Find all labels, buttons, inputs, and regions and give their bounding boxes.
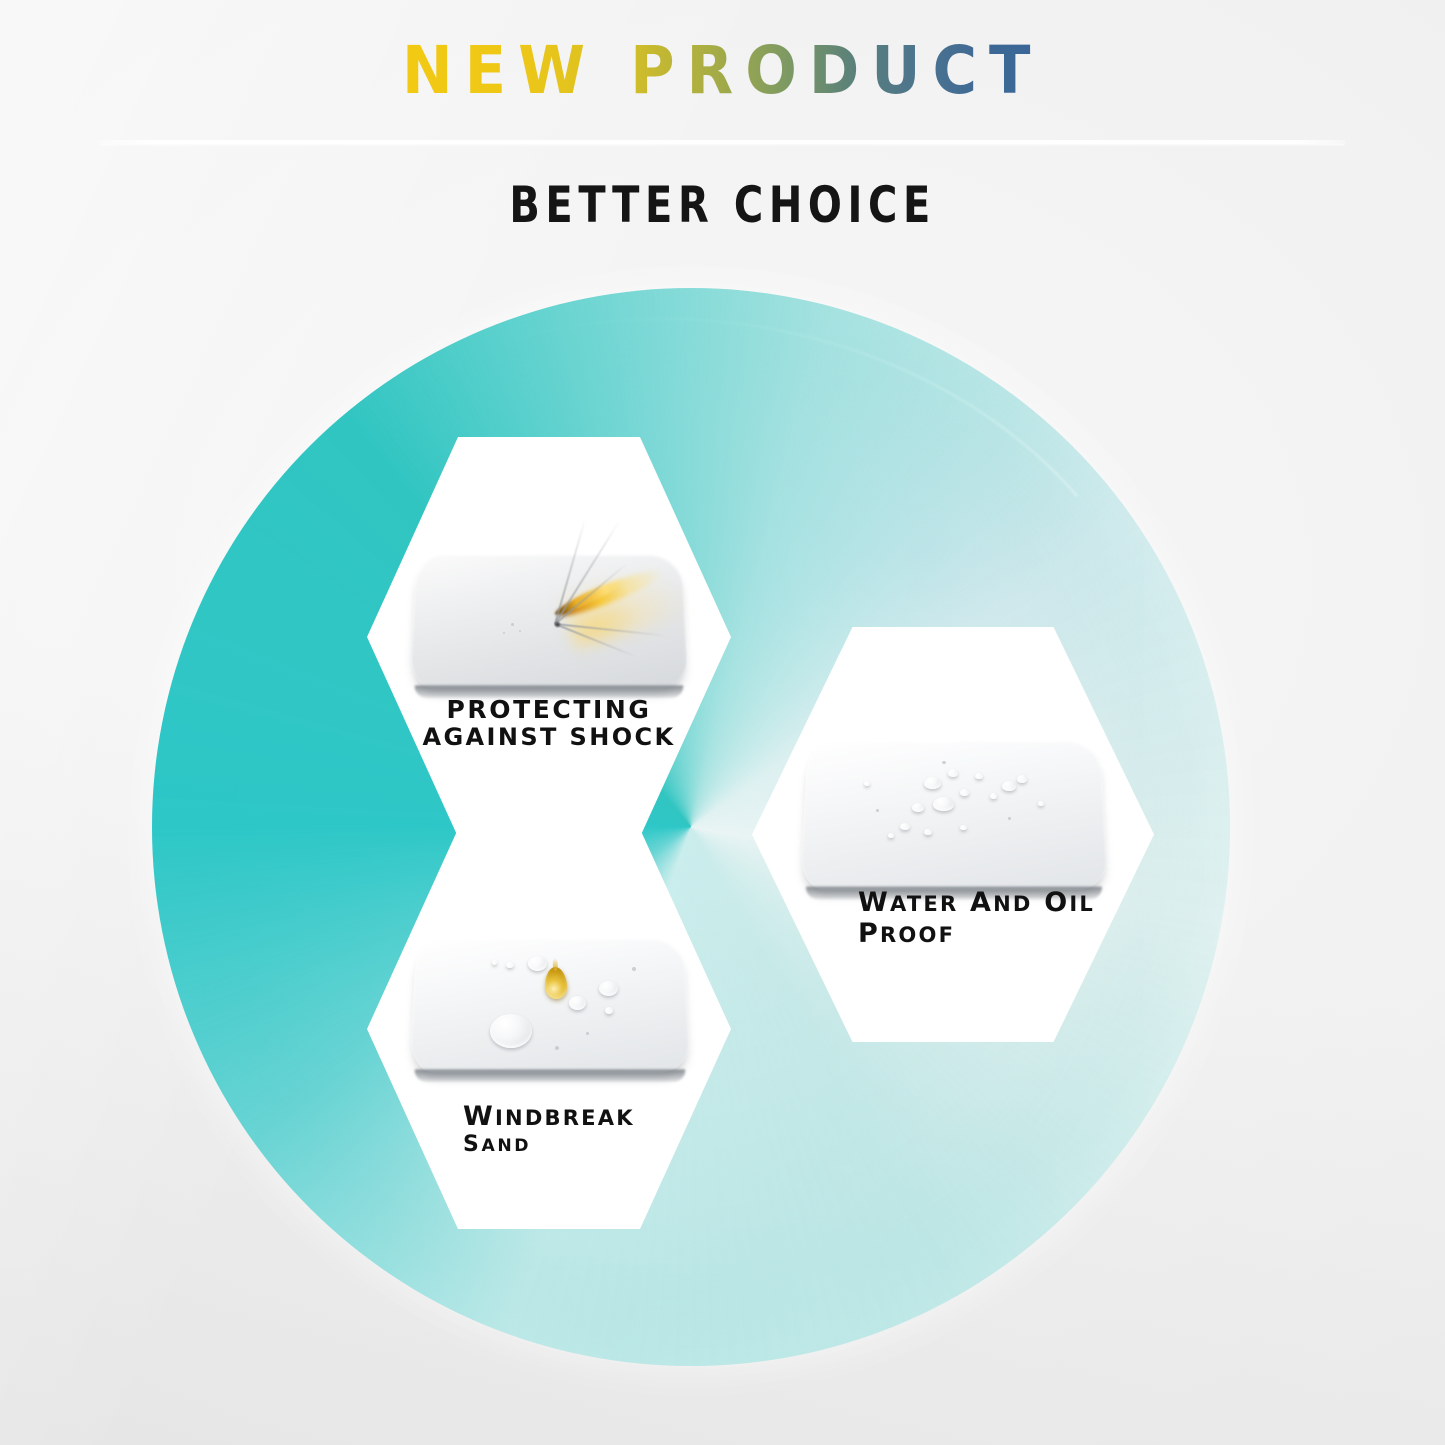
water-bead [900,823,910,830]
water-bead [888,833,894,838]
feature-label-windbreak-sand: WINDBREAK SAND [463,1101,635,1158]
water-bead [1038,801,1044,806]
water-bead [569,996,586,1010]
water-bead [1017,775,1027,783]
water-bead [990,793,997,799]
product-banner: NEW PRODUCT BETTER CHOICE [0,0,1445,1445]
header: NEW PRODUCT [0,38,1445,104]
water-bead [960,789,969,796]
water-bead [924,777,941,789]
feature-label-line2: SAND [463,1132,635,1158]
feature-label-line1: PROTECTING [422,695,675,724]
feature-label-line2: AGAINST SHOCK [422,724,675,752]
water-bead [933,797,954,811]
water-bead [1002,781,1016,791]
lens-body [800,740,1109,889]
lens-with-water-beads-image [804,713,1104,913]
feature-label-water-and-oil-proof: WATER AND OIL PROOF [858,887,1095,950]
water-bead [948,769,958,777]
water-bead [506,962,514,968]
feature-label-protecting-against-shock: PROTECTING AGAINST SHOCK [422,695,675,752]
water-bead [605,1007,613,1014]
page-title: NEW PRODUCT [402,38,1043,104]
water-bead [864,781,870,786]
lens-with-oil-droplet-image [413,913,687,1093]
lens-body [409,937,690,1071]
water-bead [912,803,924,812]
feature-label-line1: WATER AND OIL [858,887,1095,918]
lens-with-impact-spark-image [413,529,685,709]
feature-label-line2: PROOF [858,918,1095,949]
water-bead [924,829,932,835]
water-bead [960,825,967,830]
feature-label-line1: WINDBREAK [463,1101,635,1132]
water-bead [975,773,983,779]
header-divider [100,140,1345,144]
large-water-bead [490,1014,532,1048]
lens-body [409,553,688,687]
subtitle-container: BETTER CHOICE [0,180,1445,230]
page-subtitle: BETTER CHOICE [509,180,936,230]
